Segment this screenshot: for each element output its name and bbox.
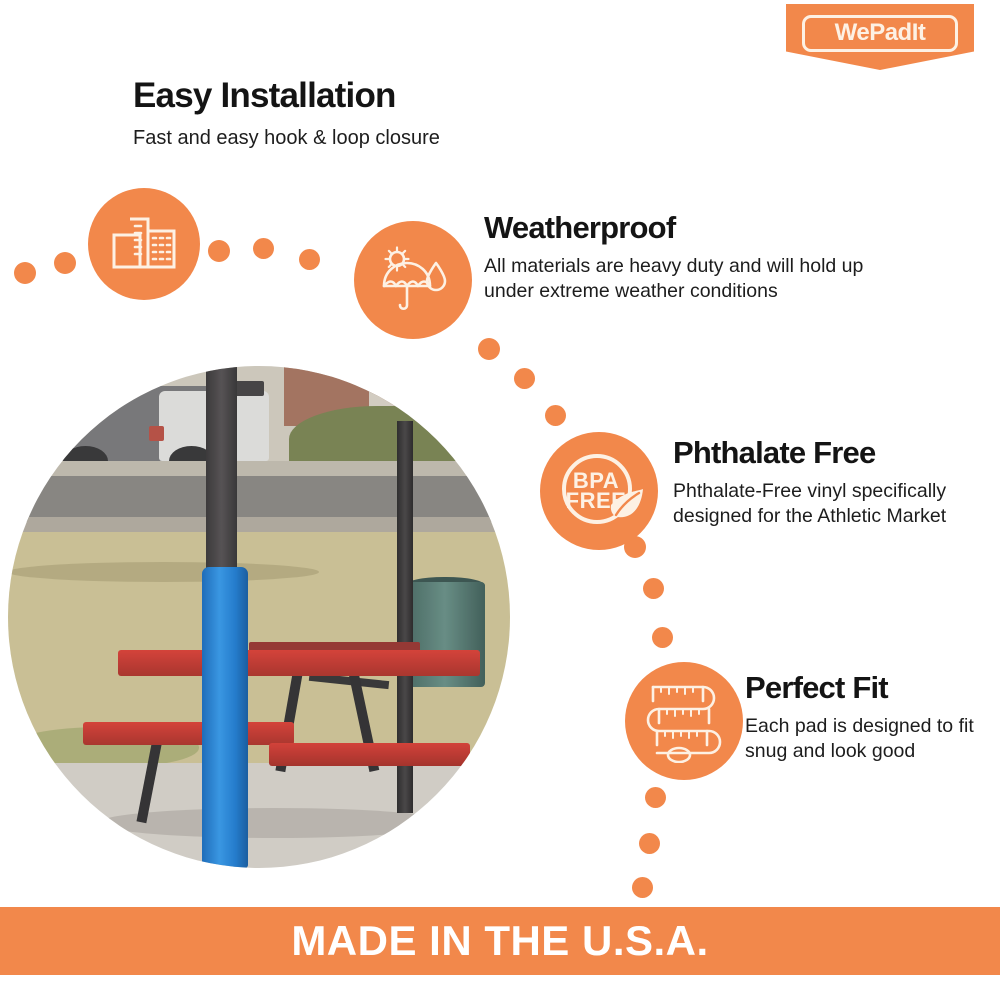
feature-description: Fast and easy hook & loop closure (133, 125, 603, 151)
brand-logo: WePadIt (786, 4, 974, 70)
feature-title: Easy Installation (133, 78, 603, 115)
feature-title: Weatherproof (484, 212, 914, 245)
logo-border-frame: WePadIt (802, 15, 958, 52)
trail-dot (514, 368, 535, 389)
trail-dot (478, 338, 500, 360)
bpa-free-leaf-icon: BPA FREE (540, 432, 658, 550)
umbrella-sun-rain-icon (354, 221, 472, 339)
feature-weatherproof: Weatherproof All materials are heavy dut… (484, 212, 914, 305)
feature-description: All materials are heavy duty and will ho… (484, 254, 914, 305)
trail-dot (14, 262, 36, 284)
trail-dot (253, 238, 274, 259)
logo-text: WePadIt (835, 21, 926, 45)
trail-dot (545, 405, 566, 426)
made-in-usa-banner: MADE IN THE U.S.A. (0, 907, 1000, 975)
feature-phthalate-free: Phthalate Free Phthalate-Free vinyl spec… (673, 437, 983, 530)
trail-dot (54, 252, 76, 274)
trail-dot (645, 787, 666, 808)
feature-description: Phthalate-Free vinyl specifically design… (673, 479, 983, 530)
trail-dot (639, 833, 660, 854)
product-photo (8, 366, 510, 868)
banner-text: MADE IN THE U.S.A. (291, 920, 708, 962)
feature-easy-installation: Easy Installation Fast and easy hook & l… (133, 78, 603, 151)
feature-title: Phthalate Free (673, 437, 983, 470)
infographic-canvas: WePadIt Easy Installation Fast and easy … (0, 0, 1000, 987)
trail-dot (299, 249, 320, 270)
trail-dot (652, 627, 673, 648)
trail-dot (632, 877, 653, 898)
feature-title: Perfect Fit (745, 672, 985, 705)
buildings-icon (88, 188, 200, 300)
trail-dot (643, 578, 664, 599)
measuring-tape-icon (625, 662, 743, 780)
feature-perfect-fit: Perfect Fit Each pad is designed to fit … (745, 672, 985, 765)
feature-description: Each pad is designed to fit snug and loo… (745, 714, 985, 765)
trail-dot (208, 240, 230, 262)
